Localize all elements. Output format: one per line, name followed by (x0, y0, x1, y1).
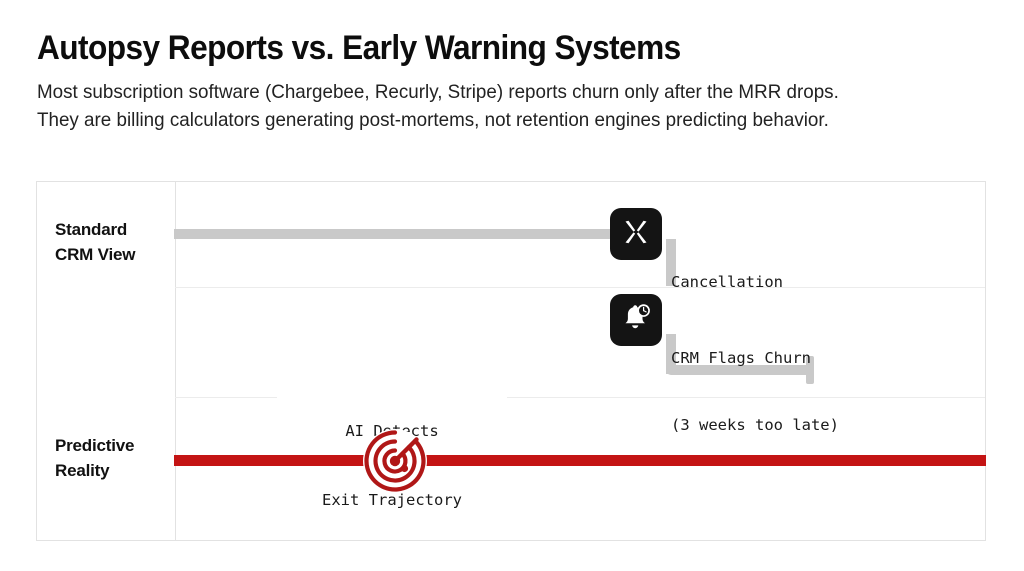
cancellation-icon-tile[interactable] (610, 208, 662, 260)
cancellation-label-line-1: Cancellation (671, 271, 783, 293)
row-divider-1 (175, 287, 985, 288)
subtitle-line-2: They are billing calculators generating … (37, 107, 954, 135)
row-label-line-1: Standard (55, 218, 173, 243)
row-label-predictive-reality: Predictive Reality (55, 434, 173, 483)
row-label-line-2: Reality (55, 459, 173, 484)
page-title: Autopsy Reports vs. Early Warning System… (37, 30, 921, 67)
header: Autopsy Reports vs. Early Warning System… (37, 30, 987, 135)
row-label-line-1: Predictive (55, 434, 173, 459)
radar-target-icon-wrap[interactable] (359, 425, 431, 497)
alarm-bell-clock-icon (620, 302, 652, 339)
crm-alert-icon-tile[interactable] (610, 294, 662, 346)
crm-alert-node-label: CRM Flags Churn (3 weeks too late) (671, 302, 839, 482)
radar-target-icon (359, 425, 431, 497)
page-subtitle: Most subscription software (Chargebee, R… (37, 79, 954, 134)
row-label-standard-crm-view: Standard CRM View (55, 218, 173, 267)
row-label-line-2: CRM View (55, 243, 173, 268)
timeline-diagram-panel: Standard CRM View Predictive Reality Can… (36, 181, 986, 541)
subtitle-line-1: Most subscription software (Chargebee, R… (37, 79, 954, 107)
standard-crm-timeline-track (174, 229, 636, 239)
crm-alert-label-line-2: (3 weeks too late) (671, 414, 839, 436)
cancellation-x-icon (621, 217, 651, 252)
crm-alert-label-line-1: CRM Flags Churn (671, 347, 839, 369)
